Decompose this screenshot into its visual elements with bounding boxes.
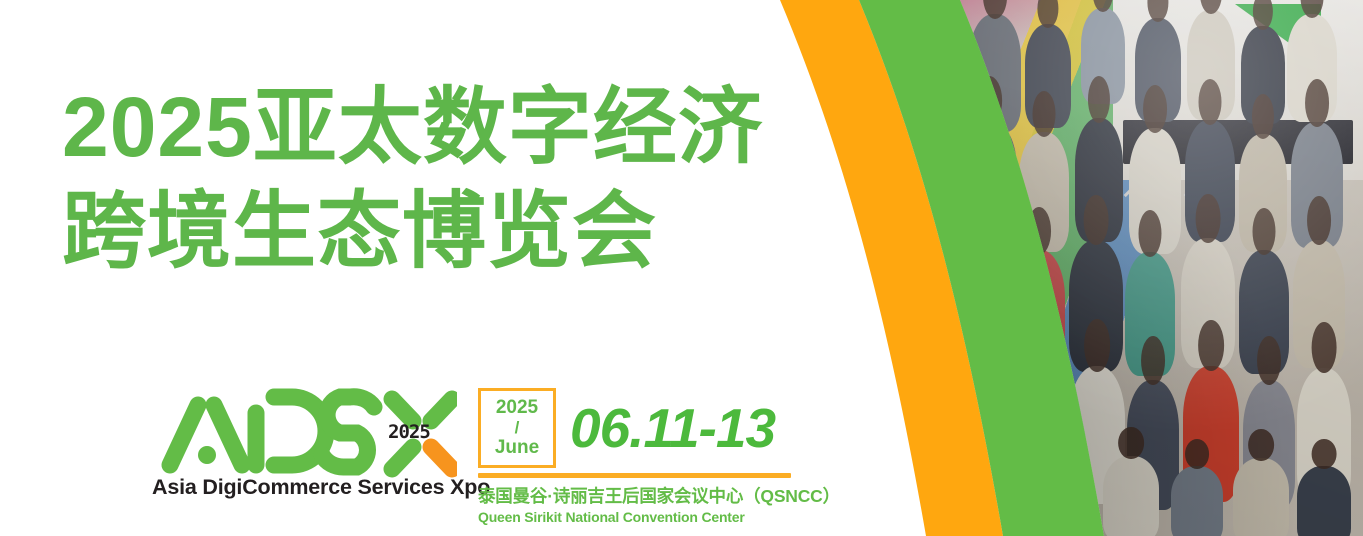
- date-year: 2025: [496, 398, 538, 418]
- date-row: 2025 / June 06.11-13: [478, 387, 808, 469]
- page-title: 2025亚太数字经济 跨境生态博览会: [62, 75, 763, 283]
- adsx-logo: 2025 Asia DigiCommerce Services Xpo: [152, 383, 457, 478]
- event-banner: 2025亚太数字经济 跨境生态博览会: [0, 0, 1363, 536]
- date-month: June: [495, 438, 539, 458]
- logo-year-badge: 2025: [388, 421, 430, 443]
- date-year-month-box: 2025 / June: [478, 388, 556, 468]
- venue-name-cn: 泰国曼谷·诗丽吉王后国家会议中心（QSNCC）: [478, 483, 808, 508]
- adsx-logo-mark: 2025: [152, 383, 457, 478]
- date-range: 06.11-13: [570, 396, 775, 460]
- headline-line-2: 跨境生态博览会: [62, 179, 763, 283]
- date-underline-rule: [478, 473, 791, 478]
- banner-content: 2025亚太数字经济 跨境生态博览会: [0, 0, 860, 536]
- venue-name-en: Queen Sirikit National Convention Center: [478, 509, 808, 525]
- logo-tagline: Asia DigiCommerce Services Xpo: [152, 475, 457, 500]
- headline-line-1: 2025亚太数字经济: [62, 75, 763, 179]
- event-date-block: 2025 / June 06.11-13 泰国曼谷·诗丽吉王后国家会议中心（QS…: [478, 387, 808, 525]
- date-separator: /: [515, 419, 520, 437]
